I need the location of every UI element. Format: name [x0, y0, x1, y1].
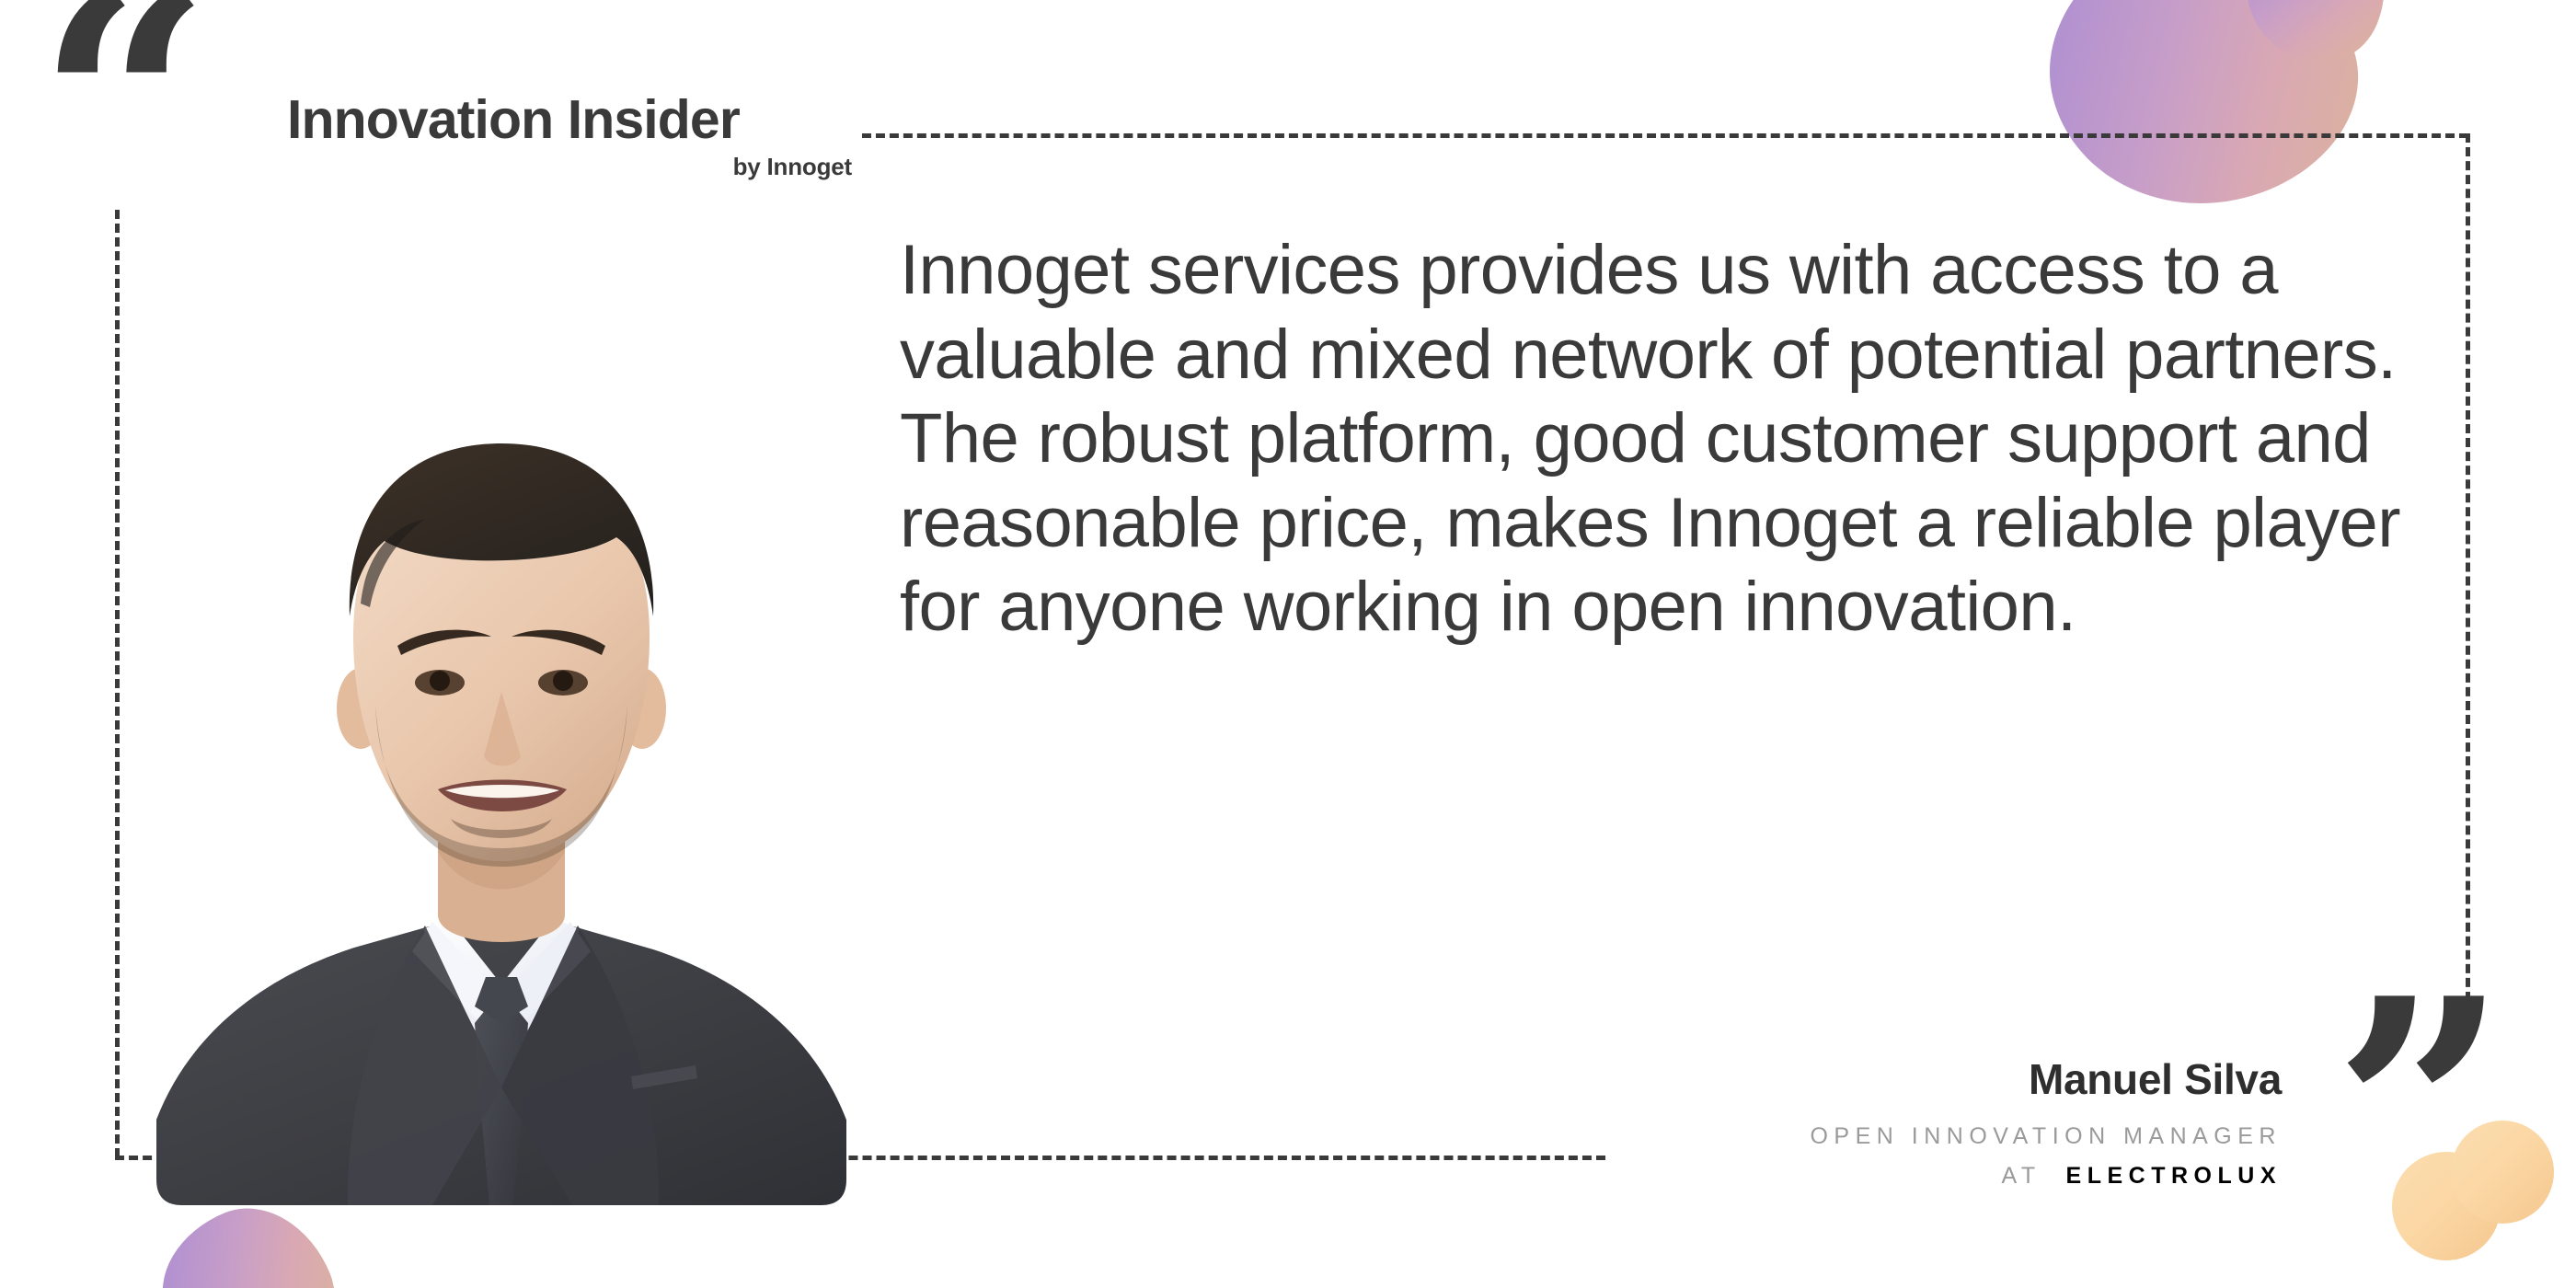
- gradient-blob-top-right-large: [2021, 0, 2383, 236]
- attribution-block: Manuel Silva OPEN INNOVATION MANAGER AT …: [1810, 1056, 2282, 1190]
- opening-quote-icon: “: [37, 0, 206, 256]
- attribution-company: ELECTROLUX: [2066, 1163, 2282, 1189]
- page-title: Innovation Insider: [287, 92, 857, 147]
- attribution-name: Manuel Silva: [1810, 1056, 2282, 1103]
- attribution-company-line: AT ELECTROLUX: [1810, 1163, 2282, 1190]
- brand-subtitle: by Innoget: [287, 153, 857, 181]
- gradient-blob-top-right-small: [2225, 0, 2405, 82]
- attribution-role: OPEN INNOVATION MANAGER: [1810, 1123, 2282, 1150]
- dashed-frame-right: [2466, 133, 2470, 1015]
- brand-lockup: Innovation Insider by Innoget: [287, 92, 857, 181]
- avatar: [156, 340, 846, 1205]
- attribution-at-label: AT: [2002, 1163, 2041, 1189]
- closing-quote-icon: ”: [2333, 959, 2502, 1262]
- testimonial-quote: Innoget services provides us with access…: [900, 228, 2455, 650]
- testimonial-card: “ Innovation Insider by Innoget: [0, 0, 2576, 1288]
- dashed-frame-top: [862, 133, 2468, 138]
- dashed-frame-left: [115, 210, 120, 1157]
